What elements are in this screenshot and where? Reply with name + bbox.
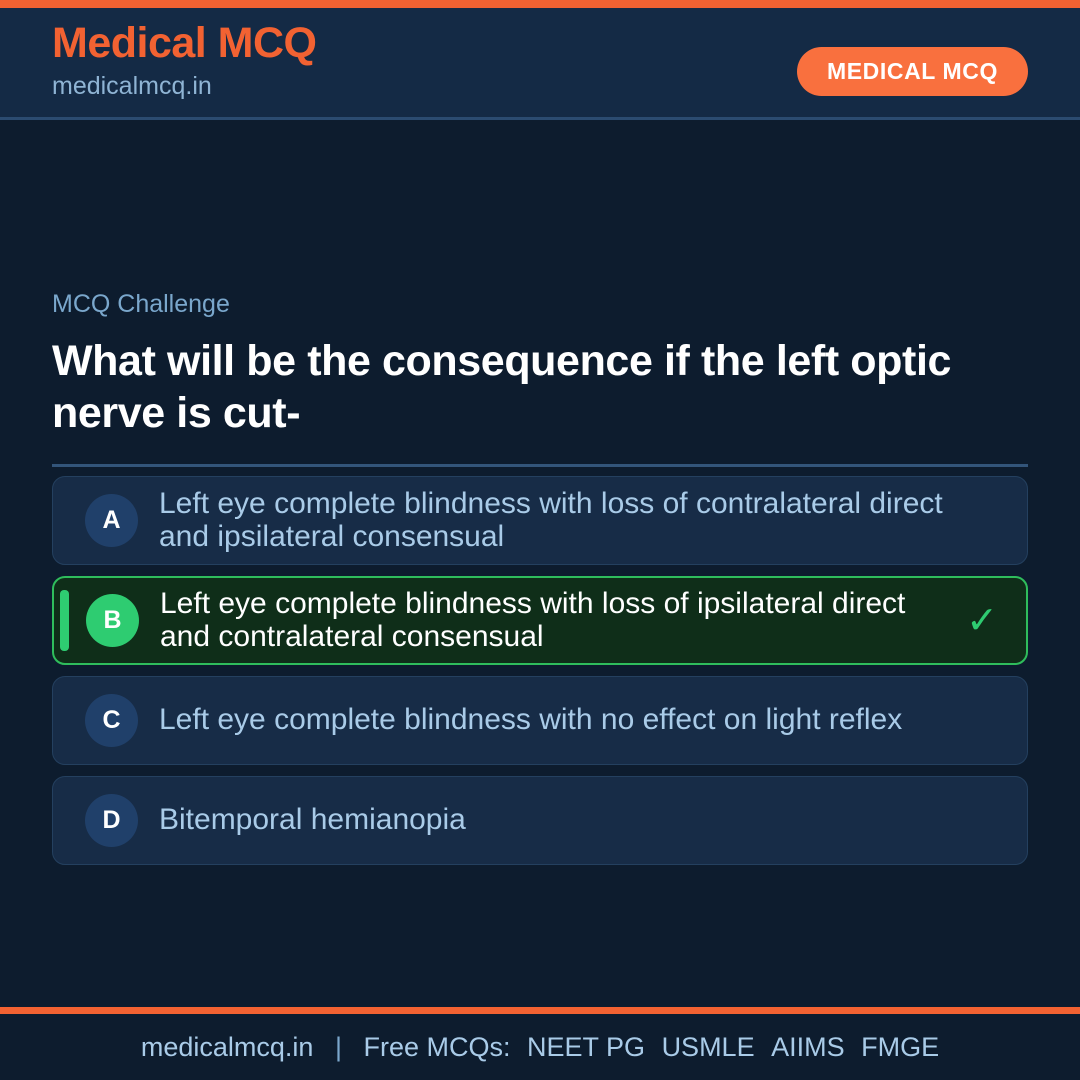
footer-prefix: Free MCQs: (363, 1032, 510, 1062)
option-b[interactable]: B Left eye complete blindness with loss … (52, 576, 1028, 665)
page-title: What will be the consequence if the left… (52, 335, 1028, 440)
option-text: Left eye complete blindness with no effe… (159, 704, 961, 736)
header-badge: MEDICAL MCQ (797, 47, 1028, 96)
footer-separator: | (321, 1032, 356, 1062)
top-accent-bar (0, 0, 1080, 8)
option-text: Bitemporal hemianopia (159, 804, 961, 836)
option-letter-badge: C (85, 694, 138, 747)
options-list: A Left eye complete blindness with loss … (52, 476, 1028, 876)
option-text: Left eye complete blindness with loss of… (160, 588, 960, 652)
question-zone: MCQ Challenge What will be the consequen… (52, 292, 1028, 467)
correct-accent-bar (60, 590, 69, 651)
page-footer: medicalmcq.in | Free MCQs: NEET PG USMLE… (0, 1014, 1080, 1080)
option-a[interactable]: A Left eye complete blindness with loss … (52, 476, 1028, 565)
footer-accent-bar (0, 1007, 1080, 1014)
option-d[interactable]: D Bitemporal hemianopia (52, 776, 1028, 865)
check-icon: ✓ (960, 602, 1004, 640)
option-c[interactable]: C Left eye complete blindness with no ef… (52, 676, 1028, 765)
option-text: Left eye complete blindness with loss of… (159, 488, 961, 552)
option-letter-badge: A (85, 494, 138, 547)
footer-exam-fmge: FMGE (852, 1032, 939, 1062)
question-kicker: MCQ Challenge (52, 292, 1028, 317)
footer-text: medicalmcq.in | Free MCQs: NEET PG USMLE… (141, 1032, 939, 1063)
option-letter-badge: B (86, 594, 139, 647)
brand-block: Medical MCQ medicalmcq.in (52, 22, 317, 99)
footer-site: medicalmcq.in (141, 1032, 314, 1062)
footer-exam-usmle: USMLE (653, 1032, 755, 1062)
brand-title: Medical MCQ (52, 22, 317, 65)
option-letter-badge: D (85, 794, 138, 847)
footer-exam-neetpg: NEET PG (518, 1032, 645, 1062)
question-divider (52, 464, 1028, 467)
footer-exam-aiims: AIIMS (762, 1032, 845, 1062)
brand-url: medicalmcq.in (52, 74, 317, 99)
page-header: Medical MCQ medicalmcq.in MEDICAL MCQ (0, 8, 1080, 120)
